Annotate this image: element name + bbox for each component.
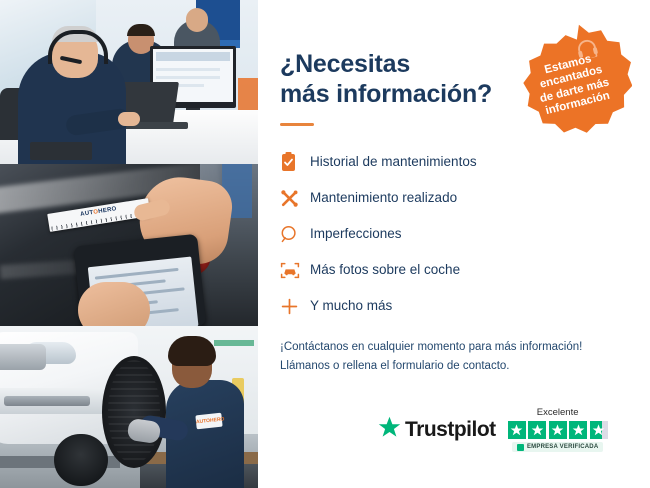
feature-item-more-photos: Más fotos sobre el coche <box>280 254 624 286</box>
front-grille <box>0 344 46 370</box>
contact-note: ¡Contáctanos en cualquier momento para m… <box>280 338 624 376</box>
monitor-screen-row <box>156 76 220 79</box>
promo-banner: AUTOHERO <box>0 0 650 488</box>
star-filled <box>569 421 587 439</box>
magnifier-icon <box>280 225 310 244</box>
check-icon <box>517 444 524 451</box>
trustpilot-widget[interactable]: Trustpilot Excelente <box>378 407 608 452</box>
contact-note-line-1: ¡Contáctanos en cualquier momento para m… <box>280 338 624 357</box>
mechanic-wheel-check-photo: AUTOHERO <box>0 326 258 488</box>
monitor-screen-header <box>156 52 230 61</box>
feature-label: Más fotos sobre el coche <box>310 263 460 277</box>
verified-company-badge: EMPRESA VERIFICADA <box>512 442 603 452</box>
tablet-holding-hand <box>78 282 150 326</box>
feature-item-maintenance-done: Mantenimiento realizado <box>280 182 624 214</box>
call-center-agents-photo <box>0 0 258 164</box>
clipboard-check-icon <box>280 152 310 172</box>
feature-label: Historial de mantenimientos <box>310 155 477 169</box>
contact-note-line-2: Llámanos o rellena el formulario de cont… <box>280 357 624 376</box>
tyre-tread <box>108 360 160 464</box>
feature-label: Imperfecciones <box>310 227 402 241</box>
background-person-head <box>186 8 208 32</box>
mechanic-hair <box>168 336 216 366</box>
wrench-screwdriver-icon <box>280 189 310 208</box>
wall-shelf <box>214 340 254 346</box>
feature-item-imperfections: Imperfecciones <box>280 218 624 250</box>
title-underline-rule <box>280 123 314 126</box>
car-inspection-ruler-photo: AUTOHERO <box>0 164 258 326</box>
star-filled <box>549 421 567 439</box>
trustpilot-star-icon <box>378 416 401 443</box>
tablet-row <box>95 268 179 280</box>
feature-list: Historial de mantenimientos Mantenimient… <box>280 146 624 322</box>
headline-line-2: más información? <box>280 80 492 108</box>
trustpilot-logo[interactable]: Trustpilot <box>378 416 496 443</box>
agent-hand <box>118 112 140 126</box>
trustpilot-stars <box>508 421 608 439</box>
trustpilot-wordmark: Trustpilot <box>405 418 496 442</box>
monitor-screen-row <box>156 68 220 71</box>
rear-wheel <box>54 434 108 486</box>
bumper-vent <box>4 396 90 406</box>
trustpilot-rating-block: Excelente <box>508 407 608 452</box>
verified-label: EMPRESA VERIFICADA <box>527 444 598 450</box>
desk-tablet <box>30 142 92 160</box>
star-filled <box>528 421 546 439</box>
support-badge: Estamos encantados de darte más informac… <box>514 22 632 140</box>
photo-column: AUTOHERO <box>0 0 258 488</box>
uniform-logo-patch: AUTOHERO <box>195 413 222 430</box>
plus-icon <box>280 297 310 316</box>
feature-label: Y mucho más <box>310 299 392 313</box>
feature-label: Mantenimiento realizado <box>310 191 457 205</box>
car-focus-icon <box>280 261 310 280</box>
feature-item-much-more: Y mucho más <box>280 290 624 322</box>
feature-item-maintenance-history: Historial de mantenimientos <box>280 146 624 178</box>
star-partial <box>590 421 608 439</box>
star-filled <box>508 421 526 439</box>
trustpilot-rating-label: Excelente <box>537 407 579 418</box>
content-panel: ¿Necesitas más información? Historial de… <box>258 0 650 488</box>
headline-line-1: ¿Necesitas <box>280 50 410 78</box>
